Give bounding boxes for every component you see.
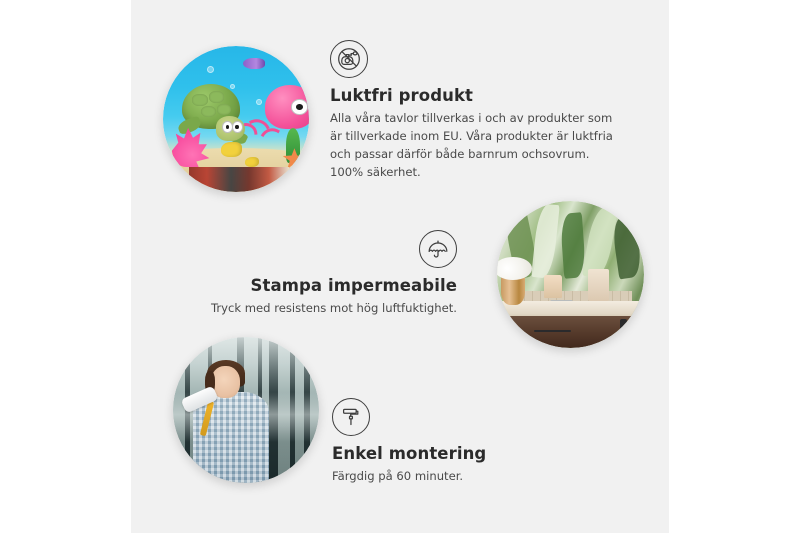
feature-block-mounting: Enkel montering Färgdig på 60 minuter. bbox=[332, 398, 582, 486]
feature-block-waterproof: Stampa impermeabile Tryck med resistens … bbox=[195, 230, 457, 318]
right-margin bbox=[669, 0, 800, 533]
photo-woman-with-paint-roller bbox=[173, 337, 319, 483]
photo-underwater-cartoon-scene bbox=[163, 46, 309, 192]
feature-title-mounting: Enkel montering bbox=[332, 445, 582, 463]
left-margin bbox=[0, 0, 131, 533]
paint-roller-icon bbox=[332, 398, 370, 436]
icon-wrap-waterproof bbox=[195, 230, 457, 268]
feature-description-odourless: Alla våra tavlor tillverkas i och av pro… bbox=[330, 110, 622, 182]
icon-wrap-odourless bbox=[330, 40, 622, 78]
photo-tropical-bathroom-interior bbox=[497, 201, 644, 348]
feature-block-odourless: Luktfri produkt Alla våra tavlor tillver… bbox=[330, 40, 622, 182]
umbrella-icon bbox=[419, 230, 457, 268]
no-fragrance-spray-icon bbox=[330, 40, 368, 78]
feature-title-waterproof: Stampa impermeabile bbox=[195, 277, 457, 295]
feature-title-odourless: Luktfri produkt bbox=[330, 87, 622, 105]
feature-description-mounting: Färgdig på 60 minuter. bbox=[332, 468, 582, 486]
feature-description-waterproof: Tryck med resistens mot hög luftfuktighe… bbox=[195, 300, 457, 318]
icon-wrap-mounting bbox=[332, 398, 582, 436]
feature-infographic: Luktfri produkt Alla våra tavlor tillver… bbox=[0, 0, 800, 533]
